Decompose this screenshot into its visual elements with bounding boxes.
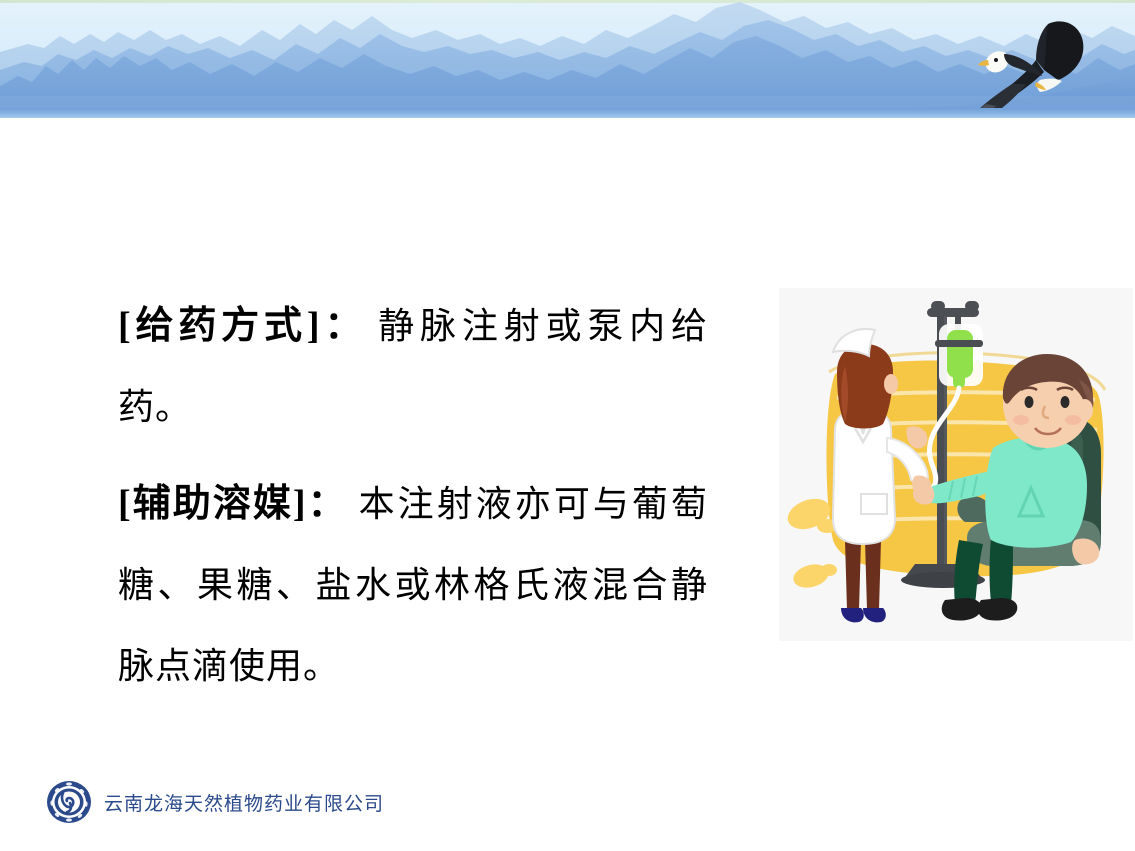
- paragraph-1-lead: [给药方式]: [118, 305, 319, 347]
- paragraph-solvent: [辅助溶媒]：本注射液亦可与葡萄糖、果糖、盐水或林格氏液混合静脉点滴使用。: [118, 464, 708, 707]
- paragraph-2-lead: [辅助溶媒]: [118, 483, 306, 525]
- footer-branding: 云南龙海天然植物药业有限公司: [46, 777, 384, 827]
- nurse-iv-infusion-illustration: [779, 288, 1133, 641]
- slide-body-text: [给药方式]：静脉注射或泵内给药。 [辅助溶媒]：本注射液亦可与葡萄糖、果糖、盐…: [118, 286, 708, 715]
- bald-eagle-icon: [952, 18, 1102, 118]
- slide-canvas: [给药方式]：静脉注射或泵内给药。 [辅助溶媒]：本注射液亦可与葡萄糖、果糖、盐…: [0, 0, 1135, 851]
- banner-base-band: [0, 108, 1135, 118]
- paragraph-administration: [给药方式]：静脉注射或泵内给药。: [118, 286, 708, 448]
- company-name: 云南龙海天然植物药业有限公司: [104, 789, 384, 816]
- paragraph-2-colon: ：: [306, 483, 359, 525]
- longhai-circular-logo-icon: [46, 779, 92, 825]
- mountain-landscape-banner: [0, 0, 1135, 118]
- paragraph-1-colon: ：: [319, 305, 378, 347]
